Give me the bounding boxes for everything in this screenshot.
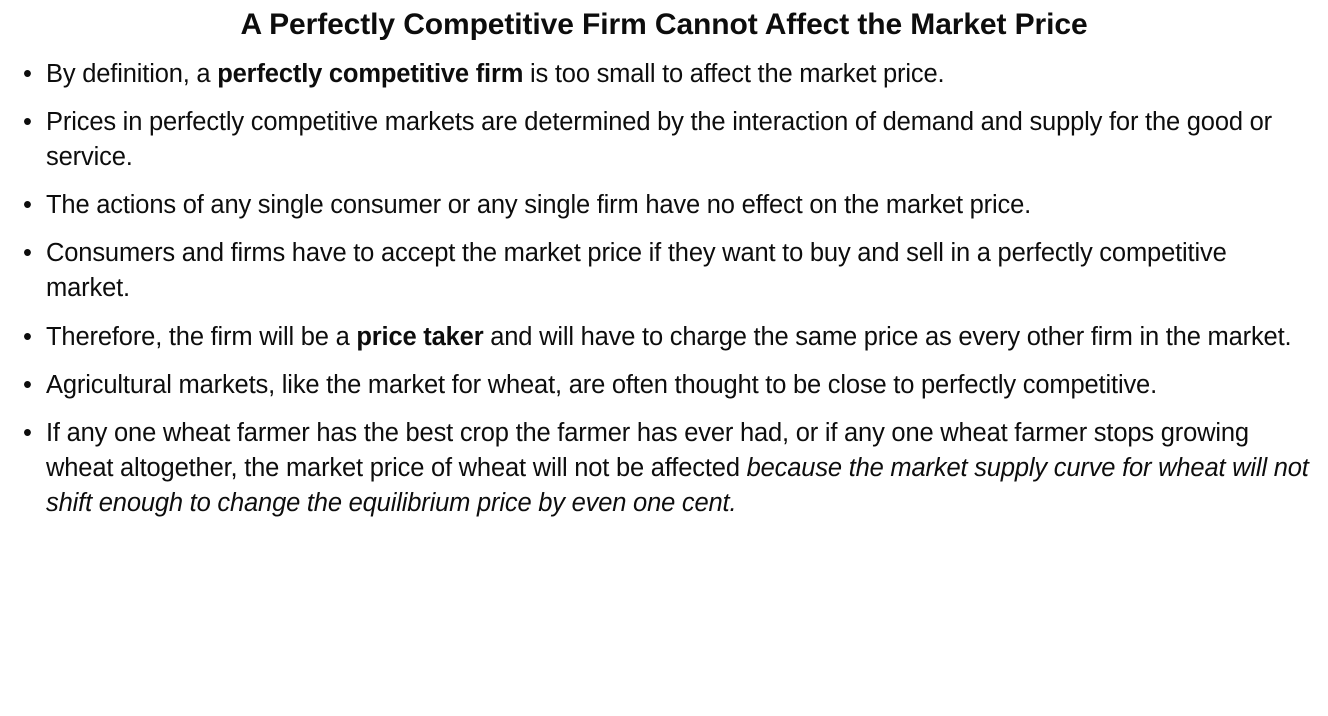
- bullet-text: Prices in perfectly competitive markets …: [46, 105, 1314, 175]
- bullet-point-icon: •: [23, 368, 32, 403]
- bullet-text: If any one wheat farmer has the best cro…: [46, 416, 1314, 522]
- bullet-text: By definition, a perfectly competitive f…: [46, 57, 1314, 92]
- emphasis-bold: price taker: [356, 323, 483, 351]
- text-run: Therefore, the firm will be a: [46, 323, 356, 351]
- text-run: Prices in perfectly competitive markets …: [46, 108, 1272, 171]
- text-run: and will have to charge the same price a…: [484, 323, 1292, 351]
- bullet-text: The actions of any single consumer or an…: [46, 188, 1314, 223]
- bullet-point-icon: •: [23, 105, 32, 140]
- bullet-no-effect: •The actions of any single consumer or a…: [14, 188, 1314, 223]
- text-run: Consumers and firms have to accept the m…: [46, 239, 1227, 302]
- text-run: By definition, a: [46, 60, 217, 88]
- bullet-agricultural: •Agricultural markets, like the market f…: [14, 368, 1314, 403]
- bullet-price-taker: •Therefore, the firm will be a price tak…: [14, 320, 1314, 355]
- bullet-accept-price: •Consumers and firms have to accept the …: [14, 236, 1314, 306]
- bullet-text: Therefore, the firm will be a price take…: [46, 320, 1314, 355]
- bullet-text: Agricultural markets, like the market fo…: [46, 368, 1314, 403]
- bullet-point-icon: •: [23, 320, 32, 355]
- bullet-wheat-farmer: •If any one wheat farmer has the best cr…: [14, 416, 1314, 522]
- slide-title: A Perfectly Competitive Firm Cannot Affe…: [0, 0, 1328, 43]
- bullet-list: •By definition, a perfectly competitive …: [0, 57, 1328, 522]
- emphasis-bold: perfectly competitive firm: [217, 60, 523, 88]
- bullet-point-icon: •: [23, 57, 32, 92]
- text-run: The actions of any single consumer or an…: [46, 191, 1031, 219]
- bullet-text: Consumers and firms have to accept the m…: [46, 236, 1314, 306]
- slide: A Perfectly Competitive Firm Cannot Affe…: [0, 0, 1328, 716]
- bullet-point-icon: •: [23, 236, 32, 271]
- bullet-point-icon: •: [23, 416, 32, 451]
- bullet-definition: •By definition, a perfectly competitive …: [14, 57, 1314, 92]
- text-run: is too small to affect the market price.: [523, 60, 944, 88]
- bullet-prices-determined: •Prices in perfectly competitive markets…: [14, 105, 1314, 175]
- bullet-point-icon: •: [23, 188, 32, 223]
- text-run: Agricultural markets, like the market fo…: [46, 371, 1157, 399]
